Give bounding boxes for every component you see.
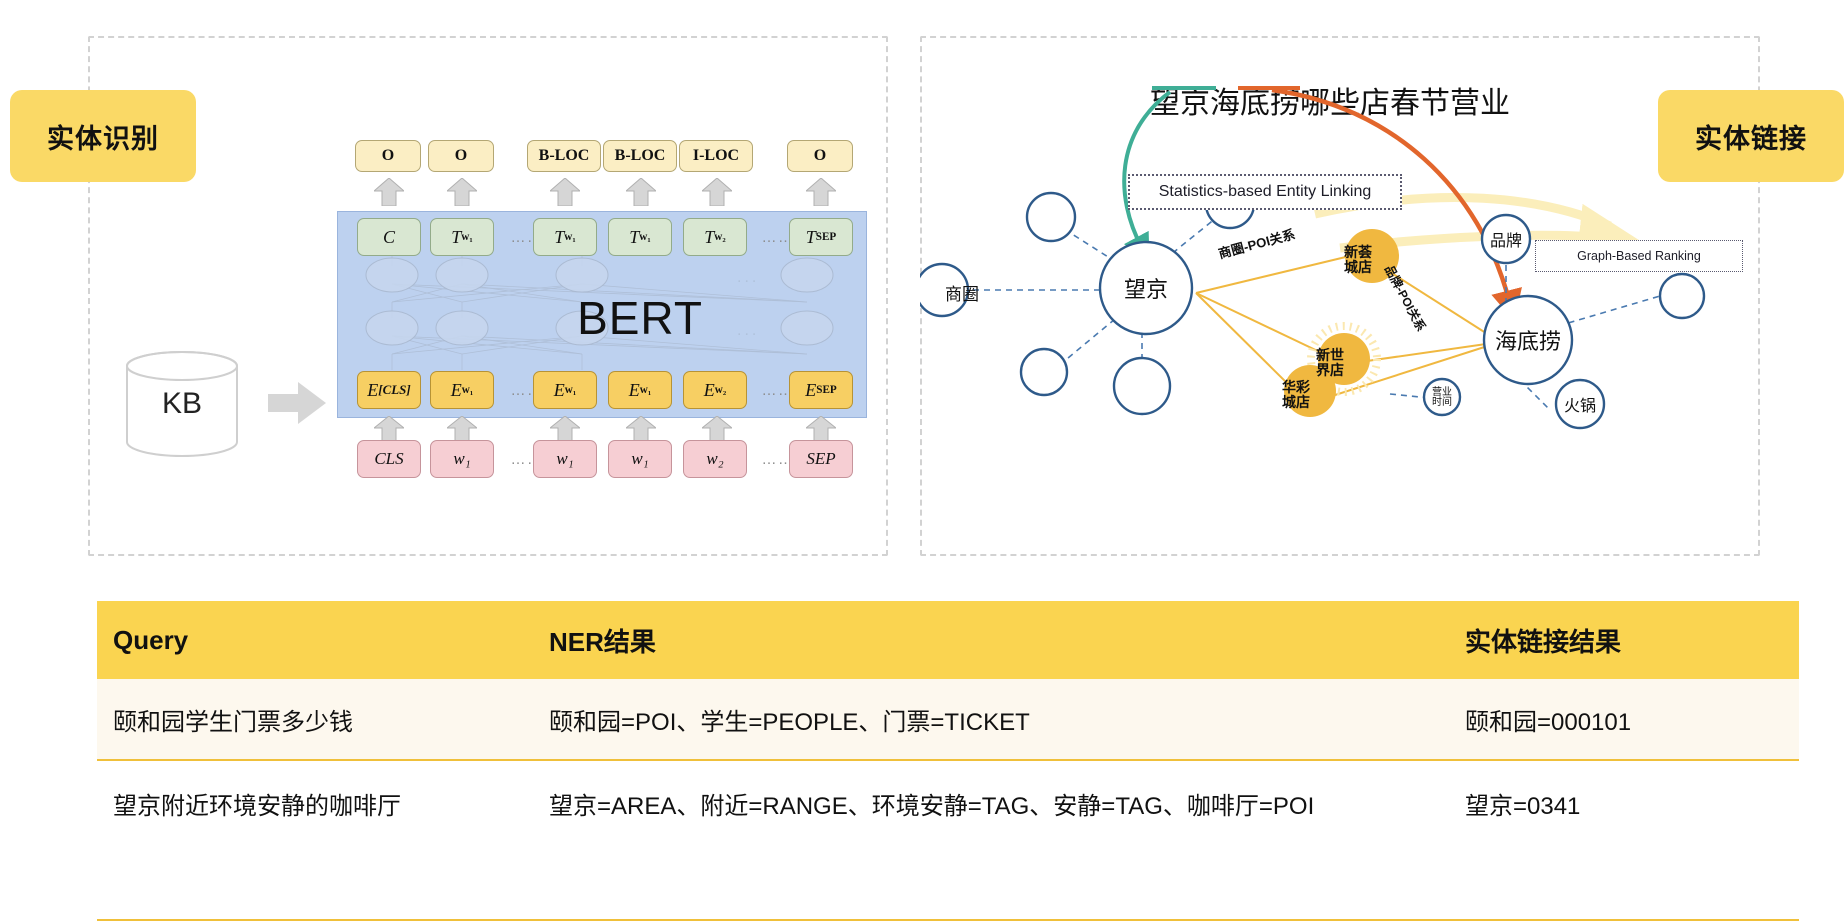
bert-token-3: w₁ (608, 440, 672, 478)
bert-output-5: TSEP (789, 218, 853, 256)
bert-embedding-4: Ew₂ (683, 371, 747, 409)
statistics-linking-box: Statistics-based Entity Linking (1128, 174, 1402, 210)
kb-to-bert-arrow-icon (268, 382, 326, 424)
up-arrow-icon (550, 178, 580, 211)
ner-tag-3: B-LOC (603, 140, 677, 172)
table-header-row: Query NER结果 实体链接结果 (97, 601, 1799, 679)
knowledge-graph (920, 36, 1760, 561)
bert-label: BERT (540, 290, 740, 346)
up-arrow-icon (806, 178, 836, 211)
bert-embedding-3: Ew₁ (608, 371, 672, 409)
node-label-poi3: 华彩 城店 (1268, 376, 1324, 414)
table-row: 颐和园学生门票多少钱 颐和园=POI、学生=PEOPLE、门票=TICKET 颐… (97, 679, 1799, 760)
col-header-ner: NER结果 (533, 601, 1449, 679)
bert-output-4: Tw₂ (683, 218, 747, 256)
bert-output-2: Tw₁ (533, 218, 597, 256)
svg-text:...: ... (737, 322, 759, 339)
node-label-yingye: 营业 时间 (1420, 382, 1464, 414)
bert-output-0: C (357, 218, 421, 256)
ner-tag-5: O (787, 140, 853, 172)
bert-embedding-1: Ew₁ (430, 371, 494, 409)
ner-tag-2: B-LOC (527, 140, 601, 172)
bert-token-0: CLS (357, 440, 421, 478)
table-row: 望京附近环境安静的咖啡厅 望京=AREA、附近=RANGE、环境安静=TAG、安… (97, 760, 1799, 845)
up-arrow-icon (626, 178, 656, 211)
cell-ner: 颐和园=POI、学生=PEOPLE、门票=TICKET (533, 679, 1449, 760)
ner-tag-1: O (428, 140, 494, 172)
bert-token-5: SEP (789, 440, 853, 478)
col-header-link: 实体链接结果 (1449, 601, 1799, 679)
node-label-shangquan: 商圈 (927, 278, 997, 306)
section-tag-ner: 实体识别 (10, 90, 196, 182)
bert-embedding-2: Ew₁ (533, 371, 597, 409)
cell-empty (533, 845, 1449, 920)
graph-ranking-box: Graph-Based Ranking (1535, 240, 1743, 272)
node-label-haidilao: 海底捞 (1488, 324, 1568, 356)
cell-link: 望京=0341 (1449, 760, 1799, 845)
bert-token-1: w₁ (430, 440, 494, 478)
bert-token-2: w₁ (533, 440, 597, 478)
bert-token-4: w₂ (683, 440, 747, 478)
cell-empty (1449, 845, 1799, 920)
table-row-empty (97, 845, 1799, 920)
up-arrow-icon (447, 178, 477, 211)
node-label-pinpai: 品牌 (1471, 225, 1541, 253)
results-table: Query NER结果 实体链接结果 颐和园学生门票多少钱 颐和园=POI、学生… (97, 601, 1751, 921)
kb-label: KB (122, 385, 242, 423)
up-arrow-icon (374, 178, 404, 211)
bert-embedding-0: E[CLS] (357, 371, 421, 409)
ner-tag-0: O (355, 140, 421, 172)
node-label-poi1: 新荟 城店 (1330, 241, 1386, 279)
cell-link: 颐和园=000101 (1449, 679, 1799, 760)
ner-tag-4: I-LOC (679, 140, 753, 172)
up-arrow-icon (702, 178, 732, 211)
bert-output-3: Tw₁ (608, 218, 672, 256)
node-label-huoguo: 火锅 (1545, 390, 1615, 418)
bert-embedding-5: ESEP (789, 371, 853, 409)
bert-output-1: Tw₁ (430, 218, 494, 256)
cell-query: 颐和园学生门票多少钱 (97, 679, 533, 760)
col-header-query: Query (97, 601, 533, 679)
svg-text:...: ... (737, 269, 759, 286)
cell-query: 望京附近环境安静的咖啡厅 (97, 760, 533, 845)
node-label-wangjing: 望京 (1106, 272, 1186, 304)
cell-ner: 望京=AREA、附近=RANGE、环境安静=TAG、安静=TAG、咖啡厅=POI (533, 760, 1449, 845)
cell-empty (97, 845, 533, 920)
